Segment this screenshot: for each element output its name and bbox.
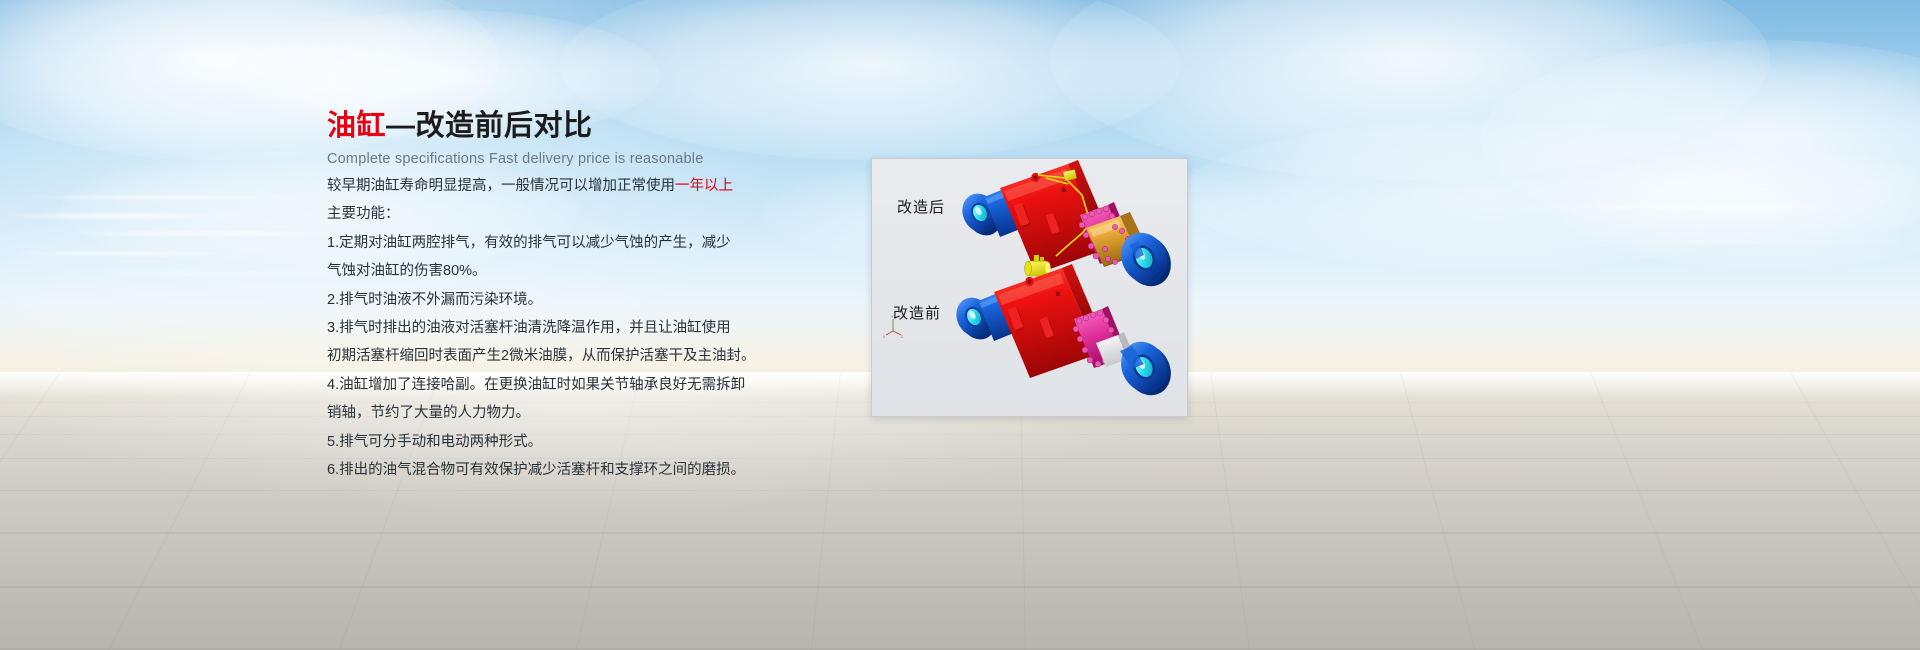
desc-line-10: 5.排气可分手动和电动两种形式。 [327,428,967,456]
label-before-modification: 改造前 [893,302,941,323]
axis-label-x: X [883,335,886,339]
hero-banner: 油缸—改造前后对比 Complete specifications Fast d… [0,0,1920,650]
title-rest: —改造前后对比 [386,110,593,142]
page-subtitle: Complete specifications Fast delivery pr… [327,151,887,167]
desc-line-11: 6.排出的油气混合物可有效保护减少活塞杆和支撑环之间的磨损。 [327,456,967,484]
title-accent: 油缸 [327,110,386,142]
page-title: 油缸—改造前后对比 [327,108,887,144]
headline-block: 油缸—改造前后对比 Complete specifications Fast d… [327,108,887,167]
banner-content: 油缸—改造前后对比 Complete specifications Fast d… [0,0,1920,650]
desc-line-1-text: 较早期油缸寿命明显提高，一般情况可以增加正常使用 [327,178,675,194]
product-comparison-panel: Y X Z 改造后 改造前 [871,158,1188,417]
axis-label-z: Z [901,335,903,339]
label-after-modification: 改造后 [897,196,945,217]
desc-line-1-highlight: 一年以上 [675,178,733,194]
